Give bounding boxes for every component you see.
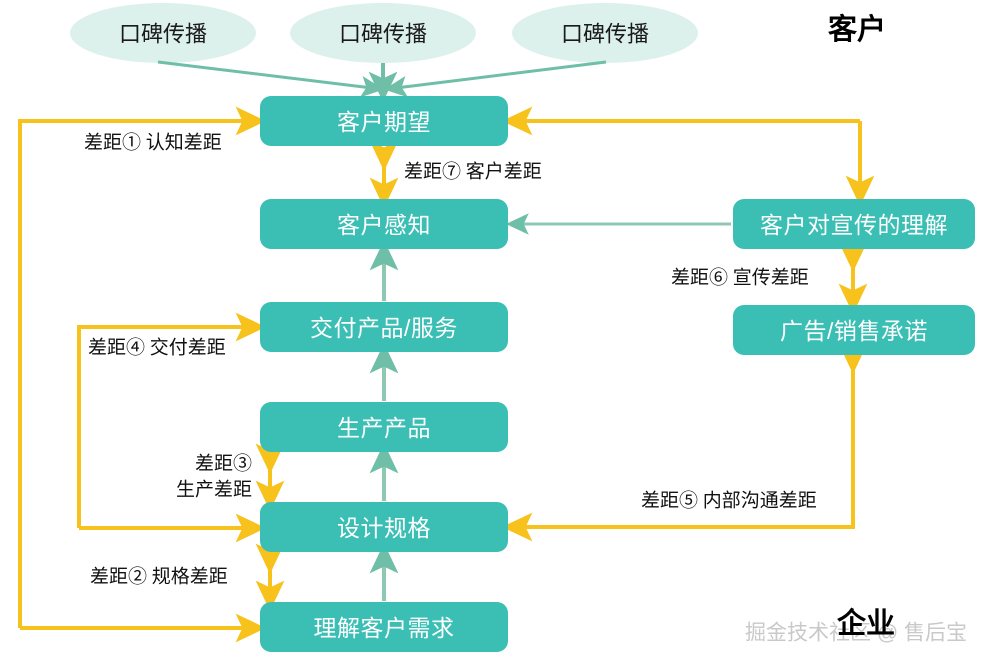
gap-label-3-line1: 差距③ [195,453,252,475]
ellipse-label-1: 口碑传播 [119,22,207,47]
box-customer-expectation[interactable]: 客户期望 [260,96,508,146]
diagram-canvas: 口碑传播 口碑传播 口碑传播 [0,0,994,664]
word-of-mouth-ellipse-1: 口碑传播 [70,3,256,63]
company-side-title: 企业 [837,606,895,640]
box-promo-understanding[interactable]: 客户对宣传的理解 [733,199,975,249]
process-boxes: 客户期望 客户感知 交付产品/服务 生产产品 设计规格 理解客户需求 [260,96,975,652]
box-design-spec[interactable]: 设计规格 [260,502,508,552]
gap-label-3-line2: 生产差距 [176,479,252,501]
word-of-mouth-arrows [158,62,606,88]
arrow-wom3-to-expectation [396,62,606,88]
gap-label-7: 差距⑦ 客户差距 [404,161,542,183]
box-label-ad-sales-promise: 广告/销售承诺 [780,318,928,344]
path-gap1-loop-up [20,121,250,628]
gap-label-5: 差距⑤ 内部沟通差距 [641,490,817,512]
box-label-promo-understanding: 客户对宣传的理解 [760,212,948,238]
gap-label-1: 差距① 认知差距 [84,132,222,154]
ellipse-label-2: 口碑传播 [339,22,427,47]
customer-side-title: 客户 [828,12,886,46]
gap-label-2: 差距② 规格差距 [90,566,228,588]
box-label-customer-perception: 客户感知 [337,212,431,238]
word-of-mouth-ellipse-3: 口碑传播 [512,3,698,63]
box-label-design-spec: 设计规格 [337,515,431,541]
gap-label-4: 差距④ 交付差距 [88,337,226,359]
word-of-mouth-ellipse-2: 口碑传播 [290,3,476,63]
box-customer-perception[interactable]: 客户感知 [260,199,508,249]
service-quality-gap-diagram: 口碑传播 口碑传播 口碑传播 [0,0,994,664]
box-ad-sales-promise[interactable]: 广告/销售承诺 [733,305,975,355]
box-label-produce-product: 生产产品 [337,415,431,441]
box-label-customer-expectation: 客户期望 [337,109,431,135]
box-produce-product[interactable]: 生产产品 [260,402,508,452]
box-label-understand-needs: 理解客户需求 [314,615,455,641]
arrow-wom1-to-expectation [158,62,372,88]
box-understand-needs[interactable]: 理解客户需求 [260,602,508,652]
box-deliver-product[interactable]: 交付产品/服务 [260,302,508,352]
word-of-mouth-group: 口碑传播 口碑传播 口碑传播 [70,3,698,63]
ellipse-label-3: 口碑传播 [561,22,649,47]
box-label-deliver-product: 交付产品/服务 [310,315,458,341]
gap-label-6: 差距⑥ 宣传差距 [671,267,809,289]
